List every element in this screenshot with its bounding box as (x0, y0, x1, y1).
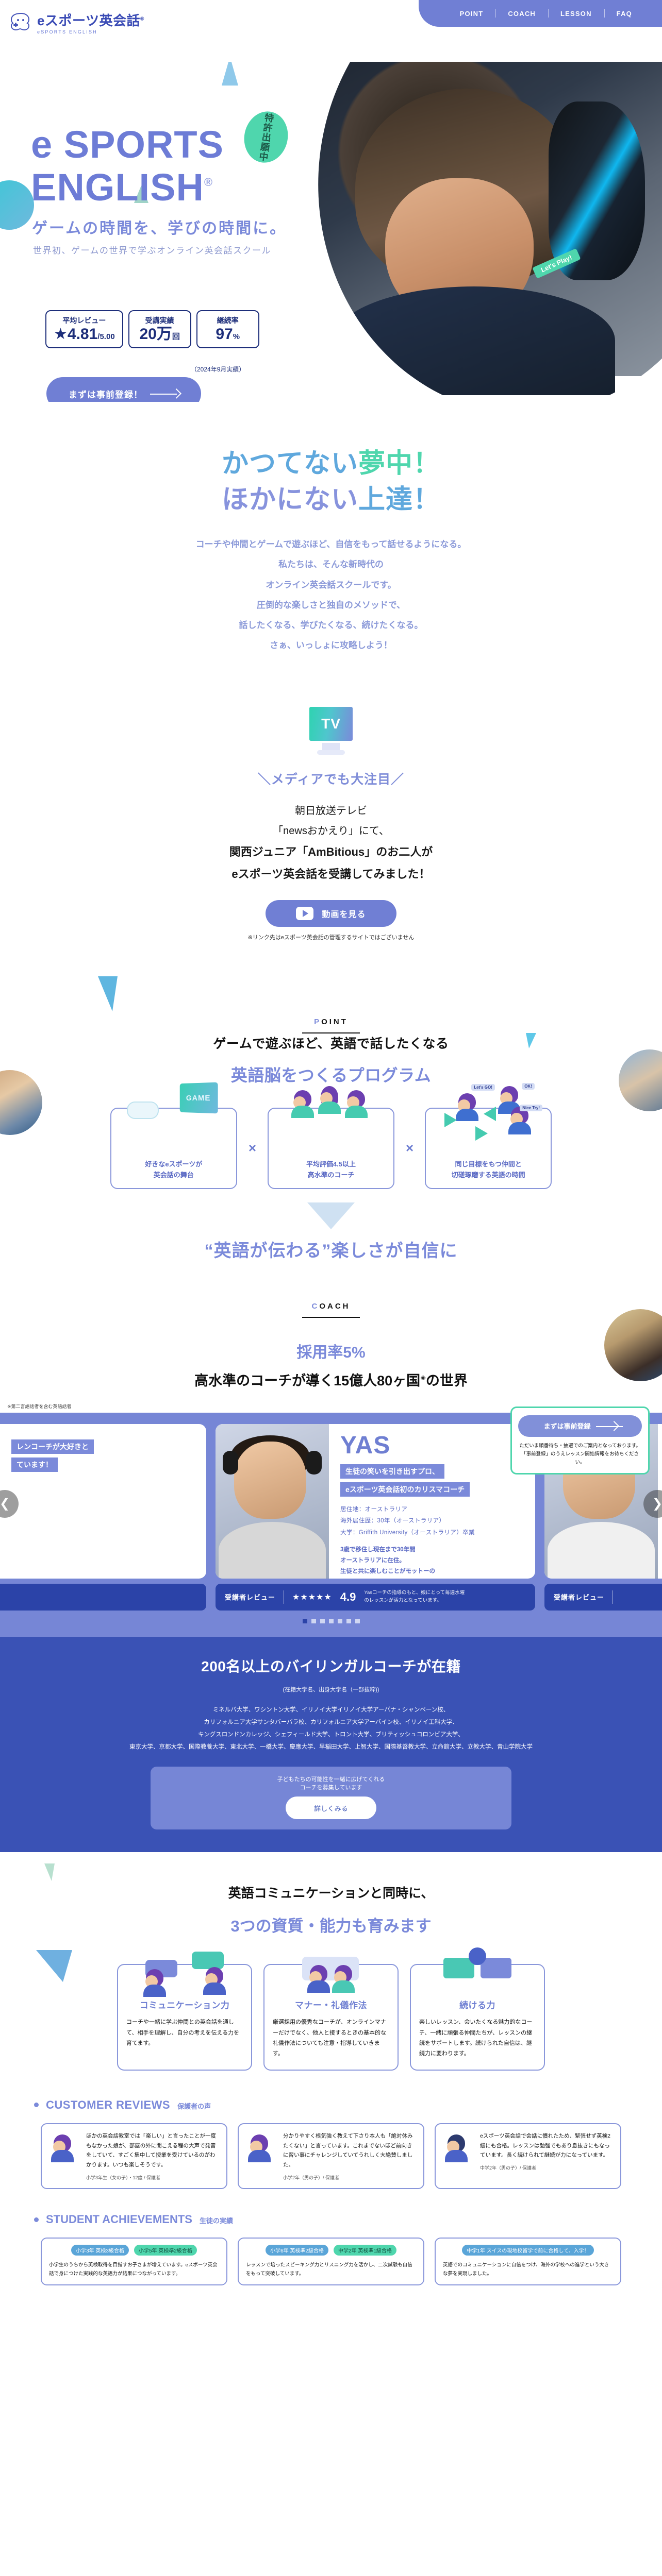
hero-cta-button[interactable]: まずは事前登録！ (46, 377, 201, 402)
achievement-badges: 小学6年 英検準2級合格 中学2年 英検準1級合格 (246, 2245, 416, 2256)
coach-meta-university: 大学：Griffith University（オーストラリア）卒業 (340, 1527, 526, 1538)
watch-video-label: 動画を見る (322, 907, 366, 920)
program-label-1b: 英会話の舞台 (154, 1171, 194, 1179)
qualities-section: 英語コミュニケーションと同時に、 3つの資質・能力も育みます コミュニケーション… (0, 1852, 662, 2070)
catch-line2-b: 上達！ (358, 485, 440, 515)
operator-x-2: × (406, 1140, 413, 1156)
coach-slider-dots[interactable] (0, 1619, 662, 1623)
point-section-label: POINT (0, 1018, 662, 1026)
hero-photo-shirt (333, 286, 615, 395)
catch-body-line-6: さぁ、いっしょに攻略しよう！ (270, 640, 392, 650)
stat-suffix: /5.00 (97, 332, 114, 341)
arrow-right-icon (596, 1423, 617, 1429)
main-nav: POINT COACH LESSON FAQ (419, 0, 662, 27)
peers-chat-bubbles-icon: Let's GO! OK! Nice Try! (426, 1079, 551, 1134)
program-label-2b: 高水準のコーチ (307, 1171, 354, 1179)
review-card: ほかの英会話教室では「楽しい」と言ったことが一度もなかった娘が、部屋の外に聞こえ… (41, 2123, 227, 2190)
decor-triangle-q-2 (36, 1950, 72, 1982)
bullet-dot-icon (34, 2103, 39, 2107)
coach-card[interactable]: レンコーチが大好きと ています！ 受講者レビュー (0, 1424, 206, 1611)
point-section-header: POINT (0, 1018, 662, 1033)
catch-section: かつてない夢中！ ほかにない上達！ コーチや仲間とゲームで遊ぶほど、自信をもって… (0, 402, 662, 676)
catch-body: コーチや仲間とゲームで遊ぶほど、自信をもって話せるようになる。 私たちは、そんな… (0, 534, 662, 655)
nav-item-faq[interactable]: FAQ (604, 10, 644, 18)
catch-body-line-2: 私たちは、そんな新時代の (278, 560, 384, 569)
review-card: eスポーツ英会話で会話に慣れたため、緊張せず英検2級にも合格。レッスンは勉強でも… (435, 2123, 621, 2190)
coach-headline-sup: ※ (420, 1376, 426, 1382)
stat-label: 平均レビュー (54, 315, 115, 326)
signup-button[interactable]: まずは事前登録 (518, 1415, 642, 1437)
coach-review-stars: ★★★★★ (292, 1592, 332, 1602)
achievement-badge: 中学1年 スイスの現地校留学で前に合格して、入学！ (462, 2245, 593, 2256)
catch-body-line-3: オンライン英会話スクールです。 (266, 580, 396, 590)
slider-dot[interactable] (329, 1619, 334, 1623)
reviews-section-label-jp: 保護者の声 (177, 2101, 211, 2111)
stat-value: 97 (216, 326, 233, 343)
catch-body-line-5: 話したくなる、学びたくなる、続けたくなる。 (239, 620, 423, 630)
coach-headline-main: 高水準のコーチが導く15億人80ヶ国 (194, 1373, 420, 1388)
quality-card-persistence: 続ける力 楽しいレッスン、会いたくなる魅力的なコーチ、一緒に頑張る仲間たちが、レ… (410, 1964, 545, 2070)
monitor-icon: GAME (180, 1082, 218, 1113)
university-line-4: 東京大学、京都大学、国際教養大学、東北大学、一橋大学、慶應大学、早稲田大学、上智… (14, 1741, 648, 1753)
achievement-text: 小学生のうちから英検取得を目指すお子さまが増えています。eスポーツ英会話で身につ… (49, 2261, 219, 2278)
review-text: 分かりやすく根気強く教えて下さり本人も「絶対休みたくない」と言っています。これま… (283, 2131, 416, 2171)
hero-title-line1: e SPORTS (31, 123, 224, 166)
reviews-row: ほかの英会話教室では「楽しい」と言ったことが一度もなかった娘が、部屋の外に聞こえ… (0, 2123, 662, 2190)
coach-recruit-card: 子どもたちの可能性を一緒に広げてくれる コーチを募集しています 詳しくみる (151, 1767, 511, 1829)
tv-line-4: eスポーツ英会話を受講してみました！ (0, 863, 662, 886)
review-meta: 中学2年（男の子）/ 保護者 (480, 2164, 613, 2171)
coach-section: COACH 採用率5% 高水準のコーチが導く15億人80ヶ国※の世界 ※第二言語… (0, 1302, 662, 1853)
point-result-text: “英語が伝わる”楽しさが自信に (0, 1236, 662, 1262)
program-label-3b: 切磋琢磨する英語の時間 (452, 1171, 525, 1179)
quality-card-manner: マナー・礼儀作法 厳選採用の優秀なコーチが、オンラインマナーだけでなく、他人と接… (263, 1964, 399, 2070)
quality-title: コミュニケーション力 (126, 1998, 243, 2011)
coach-section-header: COACH (0, 1302, 662, 1318)
qualities-heading-1: 英語コミュニケーションと同時に、 (0, 1883, 662, 1902)
patent-pending-label: 特許出願中 (256, 112, 276, 162)
tv-body: 朝日放送テレビ 「newsおかえり」にて、 関西ジュニア「AmBitious」の… (0, 801, 662, 886)
bilingual-subtitle: (在籍大学名、出身大学名（一部抜粋)) (0, 1685, 662, 1693)
down-arrow-icon (307, 1202, 355, 1229)
review-text: ほかの英会話教室では「楽しい」と言ったことが一度もなかった娘が、部屋の外に聞こえ… (86, 2131, 219, 2171)
bilingual-title: 200名以上のバイリンガルコーチが在籍 (0, 1655, 662, 1676)
achievement-badge: 小学5年 英検準2級合格 (134, 2245, 197, 2256)
operator-x-1: × (249, 1140, 256, 1156)
point-label-first: P (314, 1018, 321, 1026)
reviewer-avatar-icon (246, 2131, 278, 2181)
hero-section: e SPORTS ENGLISH® 特許出願中 ゲームの時間を、学びの時間に。 … (0, 62, 662, 402)
point-label-rest: OINT (321, 1018, 348, 1026)
catch-line1-b: 夢中！ (358, 449, 440, 479)
catch-line1-a: かつてない (222, 449, 358, 479)
landing-page: eスポーツ英会話® eSPORTS ENGLISH POINT COACH LE… (0, 0, 662, 2306)
tv-icon: TV (307, 705, 355, 755)
slider-dot[interactable] (338, 1619, 342, 1623)
coach-tagline-2: ています！ (11, 1458, 58, 1472)
bilingual-coaches-band: 200名以上のバイリンガルコーチが在籍 (在籍大学名、出身大学名（一部抜粋)) … (0, 1637, 662, 1853)
nav-item-point[interactable]: POINT (448, 10, 496, 18)
coach-tagline-1: 生徒の笑いを引き出すプロ、 (340, 1464, 444, 1479)
quality-title: 続ける力 (419, 1998, 536, 2011)
achievements-header: STUDENT ACHIEVEMENTS 生徒の実績 (0, 2213, 662, 2226)
stat-card-review: 平均レビュー ★4.81/5.00 (45, 310, 123, 348)
coach-desc-line-2: オーストラリアに在住。 (340, 1555, 526, 1566)
bilingual-universities: ミネルバ大学、ワシントン大学、イリノイ大学イリノイ大学アーバナ・シャンペーン校、… (0, 1704, 662, 1754)
hero-photo-headset (549, 101, 645, 280)
coach-desc-line-3: 生徒と共に楽しむことがモットーの (340, 1566, 526, 1577)
qualities-heading-2: 3つの資質・能力も育みます (0, 1913, 662, 1936)
stat-card-retention: 継続率 97% (196, 310, 259, 348)
catch-line2-a: ほかにない (222, 485, 358, 515)
coach-header-rule (302, 1317, 360, 1318)
tv-base (317, 750, 345, 755)
hero-title: e SPORTS ENGLISH® (31, 124, 224, 209)
hero-photo (296, 62, 662, 376)
signup-note-line2: 「事前登録」のうえレッスン開始情報をお待ちください。 (521, 1451, 639, 1465)
signup-note-line1: ただいま順番待ち・抽選でのご案内となっております。 (519, 1443, 641, 1449)
review-meta: 小学2年（男の子）/ 保護者 (283, 2174, 416, 2181)
signup-floating-card: まずは事前登録 ただいま順番待ち・抽選でのご案内となっております。 「事前登録」… (510, 1406, 650, 1475)
bubble-lets-go: Let's GO! (471, 1084, 495, 1091)
slider-dot[interactable] (346, 1619, 351, 1623)
play-icon (296, 907, 313, 920)
coach-review-text-line-1: Yasコーチの指導のもと、娘にとって毎週水曜 (364, 1590, 465, 1596)
gamepad-icon (127, 1101, 159, 1119)
review-text: eスポーツ英会話で会話に慣れたため、緊張せず英検2級にも合格。レッスンは勉強でも… (480, 2131, 613, 2161)
program-label-2a: 平均評価4.5以上 (306, 1160, 356, 1168)
signup-button-label: まずは事前登録 (543, 1421, 590, 1431)
university-line-3: キングスロンドンカレッジ、シェフィールド大学、トロント大学、ブリティッシュコロン… (14, 1728, 648, 1741)
reviews-section-label-en: CUSTOMER REVIEWS (46, 2098, 170, 2112)
coach-acceptance-rate: 採用率5% (0, 1340, 662, 1362)
tv-line-1: 朝日放送テレビ (0, 801, 662, 821)
coach-name: YAS (340, 1433, 526, 1458)
video-disclaimer: ※リンク先はeスポーツ英会話の管理するサイトではございません (0, 933, 662, 941)
program-label-3a: 同じ目標をもつ仲間と (455, 1160, 521, 1168)
program-card-coach: 平均評価4.5以上 高水準のコーチ (268, 1108, 394, 1189)
coach-photo (216, 1424, 329, 1579)
coach-desc-line-4: エンターテイナー。 (340, 1578, 526, 1579)
hero-subtitle: ゲームの時間を、学びの時間に。 (32, 215, 287, 238)
review-card: 分かりやすく根気強く教えて下さり本人も「絶対休みたくない」と言っています。これま… (238, 2123, 424, 2190)
bubble-nice-try: Nice Try! (520, 1105, 542, 1111)
coach-meta: 居住地：オーストラリア 海外居住歴：30年（オーストラリア） 大学：Griffi… (340, 1504, 526, 1538)
coach-review-bar: 受講者レビュー (544, 1584, 662, 1611)
decor-triangle-point-left (98, 976, 118, 1011)
logo-mark-icon (9, 11, 33, 35)
achievements-section-label-en: STUDENT ACHIEVEMENTS (46, 2213, 192, 2226)
stat-suffix: 回 (172, 332, 180, 341)
achievement-card: 小学3年 英検3級合格 小学5年 英検準2級合格 小学生のうちから英検取得を目指… (41, 2238, 227, 2285)
persistence-icon (431, 1944, 524, 1994)
bullet-dot-icon (34, 2217, 39, 2222)
decor-triangle-2 (0, 180, 34, 230)
site-header: eスポーツ英会話® eSPORTS ENGLISH POINT COACH LE… (0, 0, 662, 62)
achievement-card: 中学1年 スイスの現地校留学で前に合格して、入学！ 英語でのコミュニケーションに… (435, 2238, 621, 2285)
program-card-peers: Let's GO! OK! Nice Try! 同じ目標をもつ仲間と 切磋琢磨す… (425, 1108, 552, 1189)
slider-dot[interactable] (303, 1619, 307, 1623)
stat-card-lessons: 受講実績 20万回 (128, 310, 191, 348)
decor-triangle-q-1 (44, 1863, 55, 1881)
site-logo[interactable]: eスポーツ英会話® eSPORTS ENGLISH (9, 11, 144, 35)
review-meta: 小学3年生（女の子）・12歳 / 保護者 (86, 2174, 219, 2181)
stat-label: 受講実績 (137, 315, 183, 326)
coach-label-rest: OACH (319, 1302, 350, 1311)
tv-stand (322, 743, 340, 750)
signup-note: ただいま順番待ち・抽選でのご案内となっております。 「事前登録」のうえレッスン開… (518, 1442, 642, 1467)
slider-dot[interactable] (320, 1619, 325, 1623)
manner-icon (285, 1944, 377, 1994)
catch-body-line-1: コーチや仲間とゲームで遊ぶほど、自信をもって話せるようになる。 (196, 539, 467, 549)
hero-title-line2: ENGLISH (31, 166, 204, 209)
achievement-card: 小学6年 英検準2級合格 中学2年 英検準1級合格 レッスンで培ったスピーキング… (238, 2238, 424, 2285)
hero-registered-mark: ® (204, 176, 213, 189)
coach-tagline-1: レンコーチが大好きと (11, 1439, 94, 1454)
achievement-text: レッスンで培ったスピーキング力とリスニング力を活かし、二次試験も自信をもって突破… (246, 2261, 416, 2278)
reviewer-avatar-icon (49, 2131, 81, 2181)
quality-card-communication: コミュニケーション力 コーチや一緒に学ぶ仲間との英会話を通して、相手を理解し、自… (117, 1964, 252, 2070)
coach-review-bar: 受講者レビュー (0, 1584, 206, 1611)
coach-meta-abroad: 海外居住歴：30年（オーストラリア） (340, 1515, 526, 1527)
tv-line-3: 関西ジュニア「AmBitious」のお二人が (0, 841, 662, 863)
university-line-2: カリフォルニア大学サンタバーバラ校、カリフォルニア大学アーバイン校、イリノイ工科… (14, 1716, 648, 1728)
coach-review-label: 受講者レビュー (225, 1592, 275, 1602)
coach-review-score: 4.9 (340, 1590, 356, 1604)
logo-registered-mark: ® (140, 16, 144, 22)
coach-meta-residence: 居住地：オーストラリア (340, 1504, 526, 1515)
logo-subtitle: eSPORTS ENGLISH (37, 29, 144, 35)
coach-headline: 高水準のコーチが導く15億人80ヶ国※の世界 (0, 1369, 662, 1389)
qualities-row: コミュニケーション力 コーチや一緒に学ぶ仲間との英会話を通して、相手を理解し、自… (0, 1964, 662, 2070)
student-achievements-section: STUDENT ACHIEVEMENTS 生徒の実績 小学3年 英検3級合格 小… (0, 2189, 662, 2306)
customer-reviews-section: CUSTOMER REVIEWS 保護者の声 ほかの英会話教室では「楽しい」と言… (0, 2071, 662, 2190)
arrow-right-icon (150, 391, 179, 396)
three-coaches-icon (269, 1079, 393, 1134)
coach-desc-line-1: 3歳で移住し現在まで30年間 (340, 1545, 526, 1555)
stat-value: 20万 (139, 326, 172, 343)
tv-line-2: 「newsおかえり」にて、 (0, 821, 662, 841)
program-cards-row: GAME 好きなeスポーツが 英会話の舞台 × 平均評価4.5以上 高水準のコー… (0, 1108, 662, 1189)
achievement-text: 英語でのコミュニケーションに自信をつけ、海外の学校への進学という大きな夢を実現し… (443, 2261, 613, 2278)
hero-stats: 平均レビュー ★4.81/5.00 受講実績 20万回 継続率 97% (45, 310, 259, 348)
coach-review-label: 受講者レビュー (554, 1592, 604, 1602)
tv-media-section: TV ＼メディアでも大注目／ 朝日放送テレビ 「newsおかえり」にて、 関西ジ… (0, 676, 662, 972)
reviews-header: CUSTOMER REVIEWS 保護者の声 (0, 2098, 662, 2112)
slider-dot[interactable] (355, 1619, 360, 1623)
coach-tagline-2: eスポーツ英会話初のカリスマコーチ (340, 1482, 470, 1497)
quality-text: 厳選採用の優秀なコーチが、オンラインマナーだけでなく、他人と接するときの基本的な… (273, 2017, 389, 2059)
achievement-badges: 小学3年 英検3級合格 小学5年 英検準2級合格 (49, 2245, 219, 2256)
coach-review-text-line-2: のレッスンが活力となっています。 (364, 1598, 441, 1603)
tv-screen-label: TV (307, 705, 355, 743)
nav-item-coach[interactable]: COACH (495, 10, 548, 18)
achievement-badge: 小学3年 英検3級合格 (71, 2245, 129, 2256)
coach-label-first: C (311, 1302, 319, 1311)
achievements-row: 小学3年 英検3級合格 小学5年 英検準2級合格 小学生のうちから英検取得を目指… (0, 2238, 662, 2285)
coach-slider: ❮ ❯ まずは事前登録 ただいま順番待ち・抽選でのご案内となっております。 「事… (0, 1413, 662, 1637)
program-card-game: GAME 好きなeスポーツが 英会話の舞台 (110, 1108, 237, 1189)
slider-dot[interactable] (311, 1619, 316, 1623)
coach-review-bar: 受講者レビュー ★★★★★ 4.9 Yasコーチの指導のもと、娘にとって毎週水曜… (216, 1584, 535, 1611)
stat-suffix: % (233, 332, 240, 341)
coach-headline-tail: の世界 (426, 1373, 468, 1388)
stat-label: 継続率 (205, 315, 251, 326)
quality-title: マナー・礼儀作法 (273, 1998, 389, 2011)
stat-value: ★4.81 (54, 326, 97, 343)
communication-icon (138, 1944, 231, 1994)
patent-pending-badge: 特許出願中 (240, 107, 293, 166)
hero-description: 世界初、ゲームの世界で学ぶオンライン英会話スクール (33, 243, 271, 256)
reviewer-avatar-icon (443, 2131, 475, 2181)
decor-triangle-1 (222, 62, 238, 86)
coach-card[interactable]: YAS 生徒の笑いを引き出すプロ、 eスポーツ英会話初のカリスマコーチ 居住地：… (216, 1424, 535, 1611)
decor-triangle-point-right (526, 1033, 536, 1048)
recruit-detail-button[interactable]: 詳しくみる (286, 1797, 376, 1819)
achievement-badge: 中学2年 英検準1級合格 (334, 2245, 396, 2256)
quality-text: 楽しいレッスン、会いたくなる魅力的なコーチ、一緒に頑張る仲間たちが、レッスンの継… (419, 2017, 536, 2059)
coach-section-label: COACH (0, 1302, 662, 1311)
watch-video-button[interactable]: 動画を見る (266, 900, 396, 927)
program-label-1a: 好きなeスポーツが (145, 1160, 202, 1168)
coach-review-text: Yasコーチの指導のもと、娘にとって毎週水曜 のレッスンが活力となっています。 (364, 1589, 465, 1604)
nav-item-lesson[interactable]: LESSON (548, 10, 604, 18)
point-section: POINT ゲームで遊ぶほど、英語で話したくなる 英語脳をつくるプログラム GA… (0, 972, 662, 1262)
achievement-badges: 中学1年 スイスの現地校留学で前に合格して、入学！ (443, 2245, 613, 2256)
tv-kicker: ＼メディアでも大注目／ (0, 769, 662, 788)
stats-note: （2024年9月実績） (191, 365, 245, 374)
recruit-text-1: 子どもたちの可能性を一緒に広げてくれる (151, 1775, 511, 1783)
bubble-ok: OK! (522, 1083, 535, 1090)
logo-title: eスポーツ英会話 (37, 13, 140, 28)
coach-description: 3歳で移住し現在まで30年間 オーストラリアに在住。 生徒と共に楽しむことがモッ… (340, 1545, 526, 1579)
catch-body-line-4: 圧倒的な楽しさと独自のメソッドで、 (257, 600, 405, 610)
hero-cta-label: まずは事前登録！ (69, 387, 143, 400)
quality-text: コーチや一緒に学ぶ仲間との英会話を通して、相手を理解し、自分の考えを伝える力を育… (126, 2017, 243, 2048)
point-heading-1: ゲームで遊ぶほど、英語で話したくなる (0, 1033, 662, 1052)
game-monitor-controller-icon: GAME (111, 1079, 236, 1134)
recruit-text-2: コーチを募集しています (151, 1783, 511, 1791)
achievements-section-label-jp: 生徒の実績 (200, 2215, 233, 2225)
achievement-badge: 小学6年 英検準2級合格 (266, 2245, 328, 2256)
university-line-1: ミネルバ大学、ワシントン大学、イリノイ大学イリノイ大学アーバナ・シャンペーン校、 (14, 1704, 648, 1716)
point-photo-right (619, 1049, 662, 1111)
catch-heading: かつてない夢中！ ほかにない上達！ (0, 446, 662, 518)
